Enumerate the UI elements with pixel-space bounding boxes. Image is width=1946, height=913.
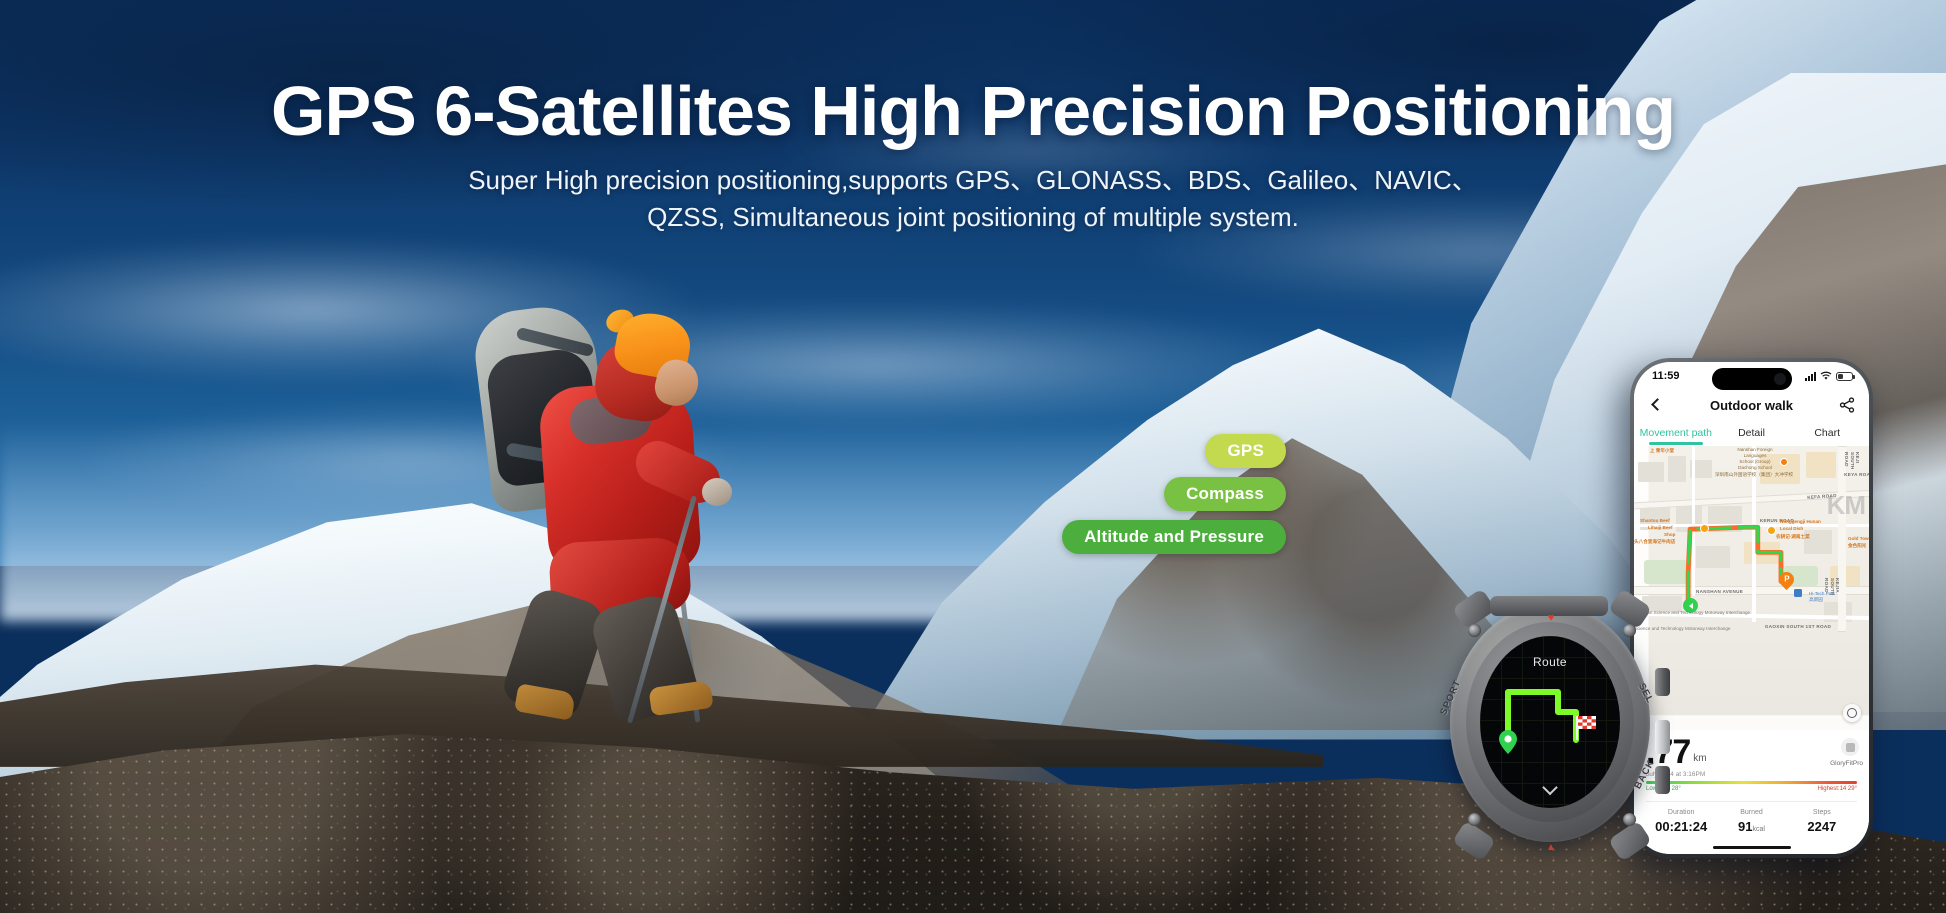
map-label: KEYA ROAD [1842, 472, 1869, 477]
map-scale-watermark: KM [1827, 490, 1865, 521]
map-label: Dachong School [1712, 465, 1798, 470]
map-label: 头八合里海记牛肉店 [1634, 539, 1704, 544]
tab-movement-path[interactable]: Movement path [1638, 427, 1714, 439]
distance-row: .77 km [1646, 736, 1857, 768]
badge-label: Compass [1186, 484, 1264, 503]
stat-steps: Steps 2247 [1787, 809, 1857, 834]
map-label: Local Dish [1780, 526, 1830, 531]
map-label: KEJIA SOUTH ROAD [1824, 578, 1840, 588]
watch-bottom-marker: ▲ [1546, 843, 1556, 853]
map-label: GAOXIN SOUTH 1ST ROAD [1750, 624, 1846, 629]
map-label: School (Group) [1712, 459, 1798, 464]
map-label: Hi-Tech Park [1796, 591, 1848, 596]
map-label: 高新园 [1796, 597, 1836, 602]
map-label: Languages [1712, 453, 1798, 458]
page-title: GPS 6-Satellites High Precision Position… [0, 76, 1946, 146]
map-poi-marker [1767, 526, 1776, 535]
hiker-glove [702, 478, 732, 506]
feature-badge-list: GPS Compass Altitude and Pressure [1062, 434, 1286, 554]
heart-icon: ♥ [1548, 613, 1555, 624]
brand-name: GloryFitPro [1830, 760, 1863, 767]
stats-row: Duration 00:21:24 Burned 91kcal Steps 22… [1646, 801, 1857, 834]
watch-button-back[interactable] [1655, 766, 1670, 794]
subtitle-line-2: QZSS, Simultaneous joint positioning of … [0, 199, 1946, 236]
battery-icon [1836, 372, 1853, 381]
badge-label: Altitude and Pressure [1084, 527, 1264, 546]
map-label: NANSHAN AVENUE [1696, 589, 1768, 594]
tab-chart[interactable]: Chart [1789, 427, 1865, 439]
stat-unit: kcal [1753, 826, 1765, 833]
altitude-highest: Highest:14 29° [1818, 786, 1857, 792]
dynamic-island [1712, 368, 1792, 390]
home-indicator[interactable] [1713, 846, 1791, 850]
map-label: Nanshan Foreign [1712, 447, 1798, 452]
distance-unit: km [1693, 753, 1706, 764]
activity-date: July 2024 at 3:16PM [1646, 771, 1857, 778]
map-poi-marker [1700, 524, 1709, 533]
watch-screw [1468, 813, 1481, 826]
stat-value: 91kcal [1716, 819, 1786, 834]
map-label: Shantou Beef [1640, 518, 1696, 523]
metro-station-icon [1794, 589, 1802, 597]
stat-value: 2247 [1787, 819, 1857, 834]
watch-screw [1623, 624, 1636, 637]
wifi-icon [1820, 371, 1832, 381]
map-label: Gold Tower [1848, 536, 1869, 541]
map-label: Lihaiji Beef [1648, 525, 1700, 530]
hiker-illustration [420, 300, 750, 720]
phone-nav-bar: Outdoor walk [1634, 390, 1869, 420]
stat-number: 91 [1738, 819, 1752, 834]
badge-label: GPS [1227, 441, 1264, 460]
locate-icon[interactable] [1843, 704, 1861, 722]
map-label: 农耕记·湖南土菜 [1776, 534, 1846, 539]
watch-screw [1623, 813, 1636, 826]
map-label: KEJI SOUTH ROAD [1844, 452, 1860, 462]
map-label: 上 青年小堂 [1636, 448, 1688, 453]
nav-title: Outdoor walk [1710, 398, 1793, 413]
phone-status-bar: 11:59 [1634, 362, 1869, 390]
status-time: 11:59 [1652, 370, 1680, 382]
chevron-down-icon[interactable] [1544, 781, 1557, 794]
stat-burned: Burned 91kcal [1716, 809, 1786, 834]
cellular-signal-icon [1805, 372, 1816, 381]
tab-detail[interactable]: Detail [1714, 427, 1790, 439]
subtitle-line-1: Super High precision positioning,support… [0, 162, 1946, 199]
page-subtitle: Super High precision positioning,support… [0, 162, 1946, 236]
stat-label: Steps [1787, 809, 1857, 816]
share-icon[interactable] [1838, 396, 1856, 414]
watch-button-sport[interactable] [1655, 668, 1670, 696]
front-camera-icon [1774, 373, 1786, 385]
smartwatch-mockup: ♥ ▲ SPORT SEL BACK Route [1428, 594, 1674, 852]
brand-logo-chip [1841, 738, 1859, 756]
chevron-left-icon[interactable] [1647, 396, 1665, 414]
badge-compass[interactable]: Compass [1164, 477, 1286, 511]
hero-text-block: GPS 6-Satellites High Precision Position… [0, 76, 1946, 236]
altitude-gradient-bar [1646, 781, 1857, 784]
badge-gps[interactable]: GPS [1205, 434, 1286, 468]
watch-screen[interactable]: Route [1480, 636, 1620, 808]
map-label: Shop [1664, 532, 1698, 537]
route-end-marker-parking: P [1779, 572, 1794, 591]
watch-button-sel[interactable] [1655, 720, 1670, 754]
map-label: 金色阳光 [1848, 543, 1869, 548]
badge-altitude-and-pressure[interactable]: Altitude and Pressure [1062, 520, 1286, 554]
status-icons [1805, 371, 1853, 381]
altitude-legend: Lowest:9 28° Highest:14 29° [1646, 786, 1857, 792]
stat-label: Burned [1716, 809, 1786, 816]
map-pin-icon [1499, 730, 1517, 754]
map-label: 深圳南山外国语学校（集团）大冲学校 [1692, 472, 1816, 477]
phone-tab-bar: Movement path Detail Chart [1634, 420, 1869, 446]
